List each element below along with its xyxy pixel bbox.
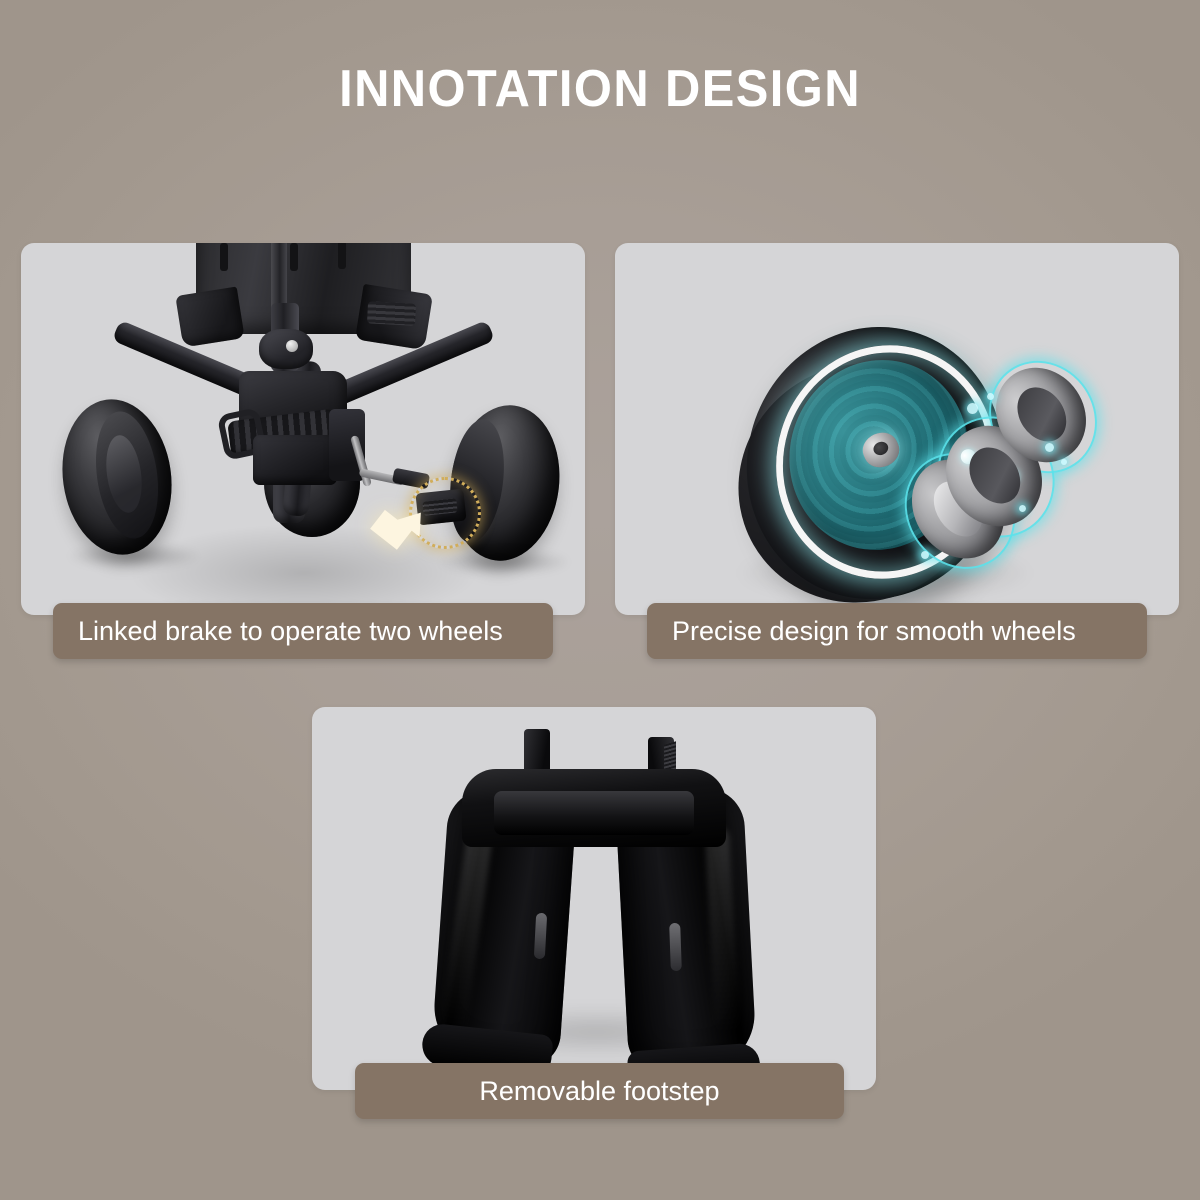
panel-linked-brake — [21, 243, 585, 615]
glow-dot — [967, 403, 978, 414]
page-title: INNOTATION DESIGN — [36, 60, 1164, 118]
bearing-ball — [1004, 467, 1022, 485]
left-wheel-shadow — [69, 543, 199, 569]
footstep-slot-right — [669, 923, 682, 971]
footstep-bridge — [494, 791, 694, 835]
bearing-ball — [984, 452, 1002, 470]
glow-dot — [921, 551, 929, 559]
bearing-ball — [958, 446, 979, 467]
right-wheel-shadow — [439, 549, 569, 575]
right-clip-block — [355, 284, 433, 350]
glow-dot — [1045, 443, 1054, 452]
caption-precise-wheels: Precise design for smooth wheels — [647, 603, 1147, 659]
bearing-ball — [983, 474, 1005, 496]
caption-linked-brake: Linked brake to operate two wheels — [53, 603, 553, 659]
left-clip-block — [175, 286, 244, 347]
caption-removable-footstep: Removable footstep — [355, 1063, 844, 1119]
lower-bracket-block — [253, 435, 337, 485]
removable-footstep-image — [312, 707, 876, 1090]
center-hub-button — [286, 340, 298, 352]
arrow-icon — [349, 501, 425, 557]
panel-removable-footstep — [312, 707, 876, 1090]
glow-dot — [1061, 459, 1067, 465]
infographic-canvas: INNOTATION DESIGN — [0, 0, 1200, 1200]
precise-wheels-image — [615, 243, 1179, 615]
glow-dot — [987, 393, 994, 400]
glow-dot — [1019, 505, 1026, 512]
panel-precise-wheels — [615, 243, 1179, 615]
linked-brake-image — [21, 243, 585, 615]
